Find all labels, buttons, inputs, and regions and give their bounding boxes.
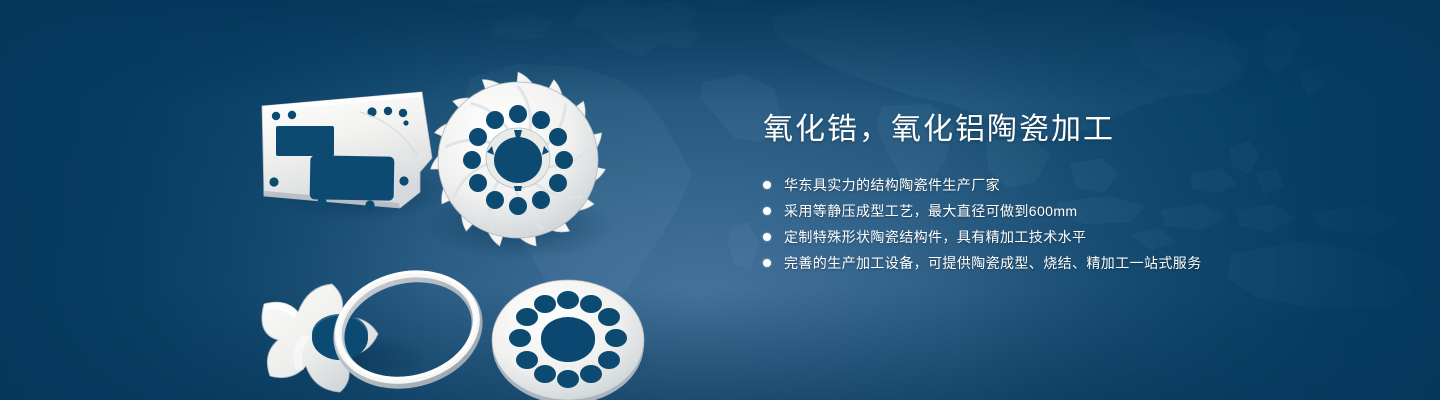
feature-text: 完善的生产加工设备，可提供陶瓷成型、烧结、精加工一站式服务 [784, 250, 1202, 276]
bullet-dot-icon [763, 181, 771, 189]
feature-list-item: 华东具实力的结构陶瓷件生产厂家 [763, 172, 1383, 198]
feature-list-item: 采用等静压成型工艺，最大直径可做到600mm [763, 198, 1383, 224]
feature-text: 华东具实力的结构陶瓷件生产厂家 [784, 172, 1000, 198]
bullet-dot-icon [763, 207, 771, 215]
banner-copy: 氧化锆，氧化铝陶瓷加工 华东具实力的结构陶瓷件生产厂家 采用等静压成型工艺，最大… [763, 110, 1383, 276]
feature-list-item: 完善的生产加工设备，可提供陶瓷成型、烧结、精加工一站式服务 [763, 250, 1383, 276]
ceramic-plate-part [262, 92, 432, 210]
bullet-dot-icon [763, 233, 771, 241]
hero-banner: 氧化锆，氧化铝陶瓷加工 华东具实力的结构陶瓷件生产厂家 采用等静压成型工艺，最大… [0, 0, 1440, 400]
bullet-dot-icon [763, 259, 771, 267]
feature-list-item: 定制特殊形状陶瓷结构件，具有精加工技术水平 [763, 224, 1383, 250]
product-photo-group [240, 40, 680, 380]
banner-headline: 氧化锆，氧化铝陶瓷加工 [763, 110, 1383, 150]
ceramic-flange-part [492, 280, 644, 400]
feature-text: 定制特殊形状陶瓷结构件，具有精加工技术水平 [784, 224, 1086, 250]
feature-text: 采用等静压成型工艺，最大直径可做到600mm [784, 198, 1077, 224]
feature-list: 华东具实力的结构陶瓷件生产厂家 采用等静压成型工艺，最大直径可做到600mm 定… [763, 172, 1383, 276]
